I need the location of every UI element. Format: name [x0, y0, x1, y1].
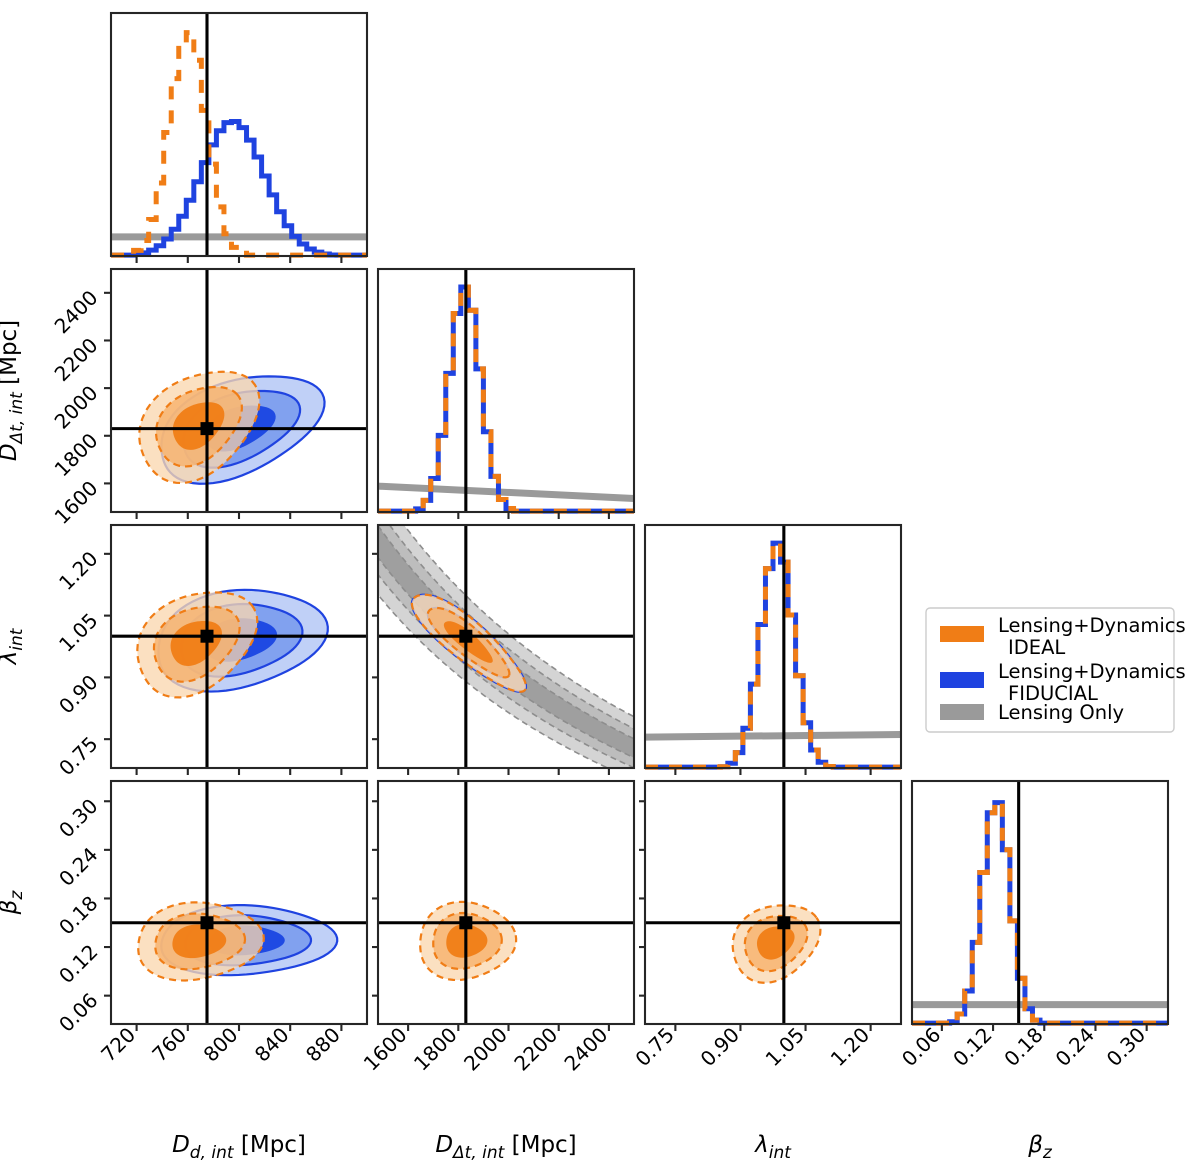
ytick-label-Ddt-3: 2200 [50, 333, 103, 386]
ytick-label-bz-3: 0.24 [54, 842, 102, 890]
panel-diagonal-Ddt [378, 269, 634, 512]
panel-joint-bz-vs-lam [645, 781, 901, 1024]
xtick-label-lam-1: 0.90 [696, 1023, 744, 1071]
ytick-label-bz-0: 0.06 [54, 988, 102, 1036]
xtick-label-lam-2: 1.05 [761, 1023, 809, 1071]
ytick-label-Ddt-1: 1800 [50, 428, 103, 481]
truth-marker [201, 422, 214, 435]
panel-diagonal-bz [912, 781, 1168, 1024]
ytick-label-lam-0: 0.75 [54, 732, 102, 780]
yaxis-label-lam: λint [0, 627, 27, 666]
xtick-label-Ddt-3: 2200 [509, 1023, 562, 1076]
legend-gray-swatch [940, 704, 984, 720]
ytick-label-Ddt-0: 1600 [50, 476, 103, 529]
xaxis-label-lam: λint [753, 1132, 792, 1163]
yaxis-label-bz: βz [0, 890, 27, 916]
xtick-label-bz-0: 0.06 [897, 1023, 945, 1071]
xtick-label-bz-3: 0.24 [1051, 1023, 1099, 1071]
ytick-label-Ddt-2: 2000 [50, 381, 103, 434]
ytick-label-bz-4: 0.30 [54, 794, 102, 842]
truth-marker [459, 630, 472, 643]
legend-blue-swatch [940, 672, 984, 688]
panel-joint-bz-vs-Dd [111, 781, 367, 1024]
ytick-label-bz-2: 0.18 [54, 891, 102, 939]
corner-plot-figure: 720760800840880Dd, int [Mpc]160018002000… [0, 0, 1200, 1168]
xtick-label-Dd-3: 840 [250, 1023, 294, 1067]
panel-joint-Ddt-vs-Dd [111, 269, 367, 512]
xtick-label-lam-0: 0.75 [630, 1023, 678, 1071]
xaxis-label-Ddt: DΔt, int [Mpc] [435, 1132, 576, 1163]
xtick-label-Ddt-4: 2400 [559, 1023, 612, 1076]
truth-marker [201, 630, 214, 643]
xtick-label-Dd-1: 760 [147, 1023, 191, 1067]
legend-label-0-line1: Lensing+Dynamics [998, 614, 1186, 637]
truth-marker [777, 916, 790, 929]
panel-joint-lam-vs-Ddt [378, 488, 634, 779]
legend: Lensing+DynamicsIDEALLensing+DynamicsFID… [926, 608, 1186, 732]
xtick-label-bz-2: 0.18 [999, 1023, 1047, 1071]
marginal-lensing-only [645, 734, 901, 737]
ytick-label-bz-1: 0.12 [54, 940, 102, 988]
yaxis-label-Ddt: DΔt, int [Mpc] [0, 320, 27, 461]
ytick-label-Ddt-4: 2400 [50, 285, 103, 338]
legend-label-2-line1: Lensing Only [998, 701, 1124, 724]
legend-orange-swatch [940, 626, 984, 642]
xtick-label-bz-1: 0.12 [948, 1023, 996, 1071]
xaxis-label-bz: βz [1027, 1132, 1053, 1163]
xtick-label-lam-3: 1.20 [826, 1023, 874, 1071]
xtick-label-Ddt-0: 1600 [359, 1023, 412, 1076]
xtick-label-Ddt-2: 2000 [459, 1023, 512, 1076]
ytick-label-lam-2: 1.05 [54, 608, 102, 656]
panel-joint-bz-vs-Ddt [378, 781, 634, 1024]
panel-diagonal-Dd [111, 13, 367, 256]
ytick-label-lam-3: 1.20 [54, 546, 102, 594]
legend-label-1-line1: Lensing+Dynamics [998, 660, 1186, 683]
panel-joint-lam-vs-Dd [111, 525, 367, 768]
xtick-label-Dd-4: 880 [301, 1023, 345, 1067]
corner-plot-svg: 720760800840880Dd, int [Mpc]160018002000… [0, 0, 1200, 1168]
xtick-label-bz-4: 0.30 [1102, 1023, 1150, 1071]
xaxis-label-Dd: Dd, int [Mpc] [172, 1132, 306, 1163]
xtick-label-Dd-0: 720 [96, 1023, 140, 1067]
panel-diagonal-lam [645, 525, 901, 768]
ytick-label-lam-1: 0.90 [54, 670, 102, 718]
xtick-label-Dd-2: 800 [199, 1023, 243, 1067]
xtick-label-Ddt-1: 1800 [409, 1023, 462, 1076]
truth-marker [201, 916, 214, 929]
legend-label-0-line2: IDEAL [1008, 636, 1065, 659]
truth-marker [459, 916, 472, 929]
